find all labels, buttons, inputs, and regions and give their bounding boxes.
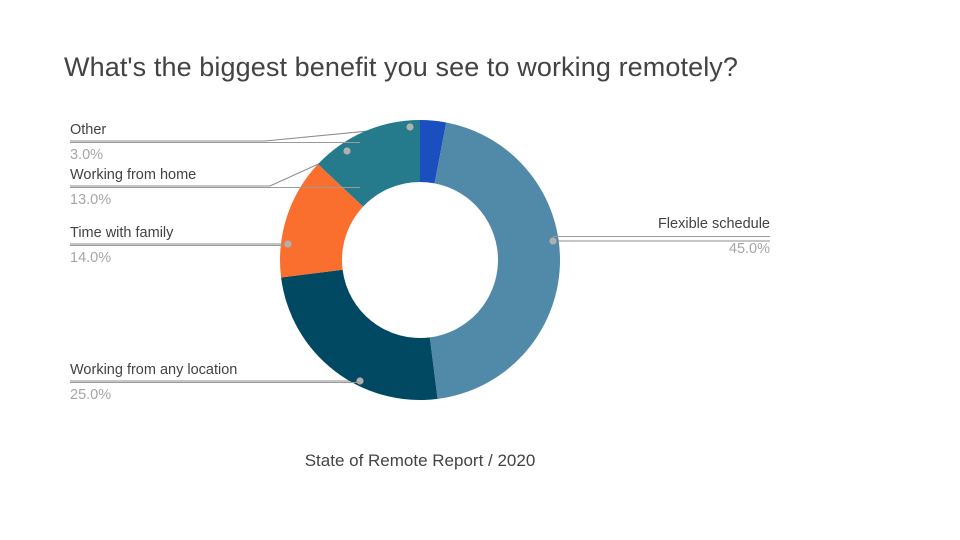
- callout-flexible-schedule[interactable]: Flexible schedule 45.0%: [553, 215, 770, 259]
- callout-flexible-schedule-label: Flexible schedule: [553, 215, 770, 234]
- slide-canvas: What's the biggest benefit you see to wo…: [0, 0, 960, 540]
- callout-working-from-home[interactable]: Working from home 13.0%: [70, 166, 360, 210]
- callout-time-with-family-value: 14.0%: [70, 249, 285, 268]
- callout-working-from-any-location[interactable]: Working from any location 25.0%: [70, 361, 360, 405]
- callout-working-from-home-label: Working from home: [70, 166, 360, 185]
- callout-flexible-schedule-value: 45.0%: [553, 240, 770, 259]
- callout-working-from-any-location-rule: [70, 382, 360, 383]
- callout-time-with-family-rule: [70, 245, 285, 246]
- callout-other-label: Other: [70, 121, 360, 140]
- callout-working-from-home-rule: [70, 187, 360, 188]
- callout-working-from-any-location-label: Working from any location: [70, 361, 360, 380]
- callout-other[interactable]: Other 3.0%: [70, 121, 360, 165]
- slice-flexible-schedule[interactable]: [430, 122, 560, 398]
- callout-time-with-family[interactable]: Time with family 14.0%: [70, 224, 285, 268]
- callout-other-rule: [70, 142, 360, 143]
- anchor-dot-other: [406, 123, 413, 130]
- callout-flexible-schedule-rule: [553, 236, 770, 237]
- callout-other-value: 3.0%: [70, 146, 360, 165]
- chart-source-caption: State of Remote Report / 2020: [0, 449, 840, 473]
- anchor-dot-family: [284, 240, 291, 247]
- callout-time-with-family-label: Time with family: [70, 224, 285, 243]
- callout-working-from-home-value: 13.0%: [70, 191, 360, 210]
- callout-working-from-any-location-value: 25.0%: [70, 386, 360, 405]
